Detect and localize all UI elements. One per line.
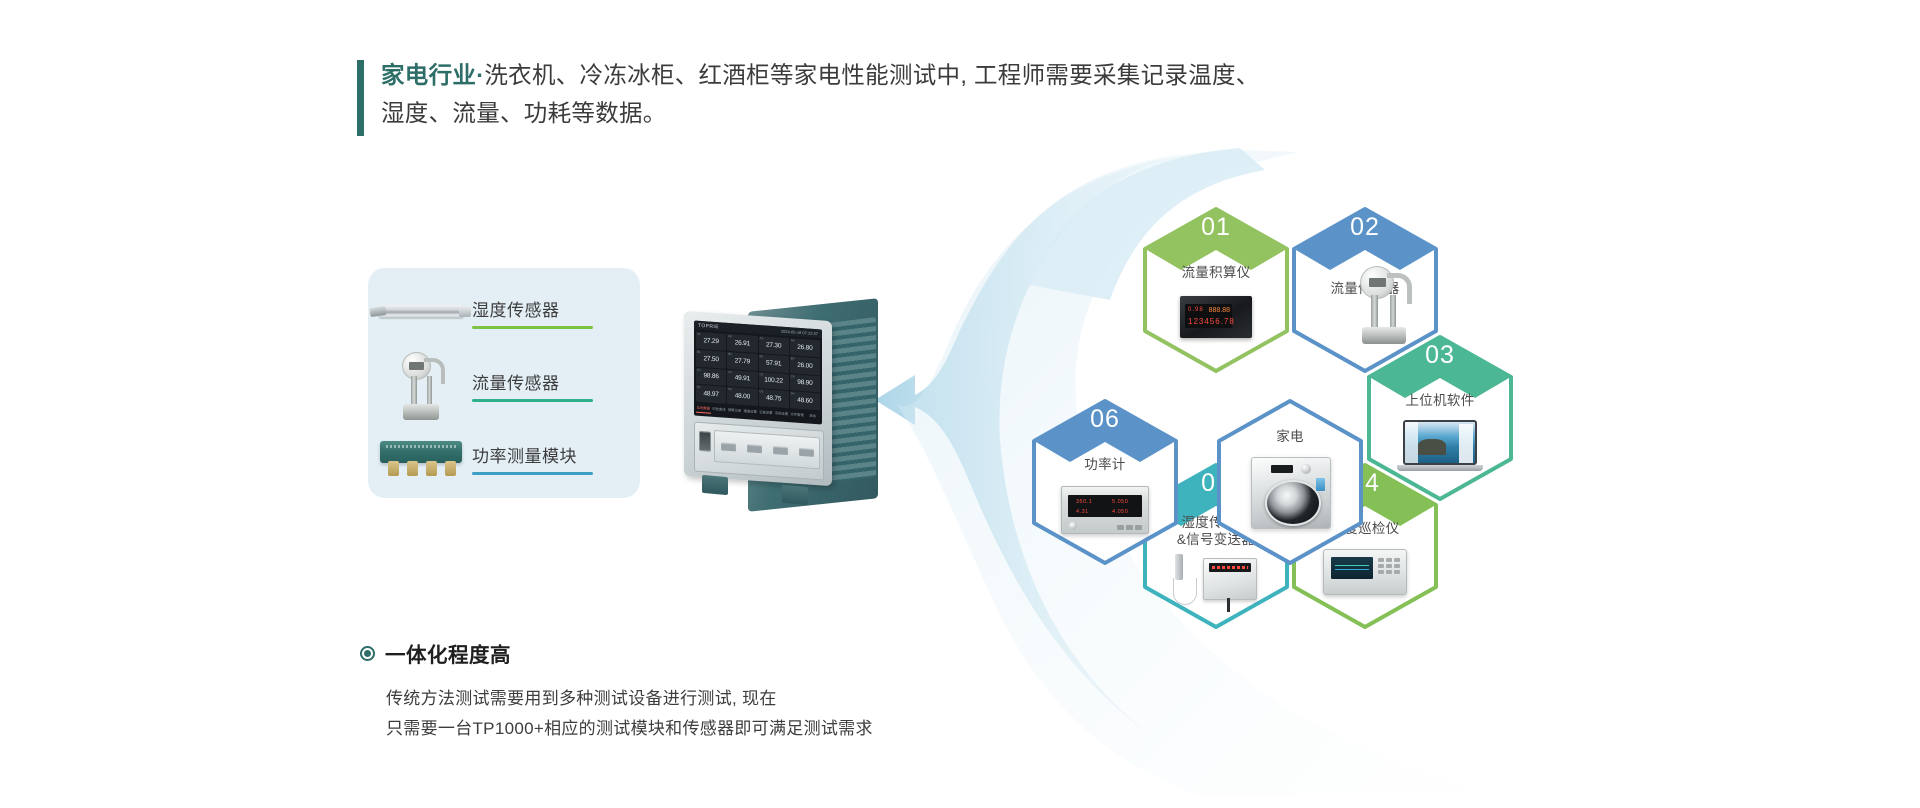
- bottom-body-line1: 传统方法测试需要用到多种测试设备进行测试, 现在: [386, 684, 1260, 714]
- reading-value: 48.00: [735, 392, 750, 400]
- device-tab-alarms[interactable]: 报警记录: [727, 406, 742, 416]
- washing-machine-icon: [1215, 454, 1365, 532]
- reading-cell: D348.75: [759, 389, 789, 408]
- sensor-label-wrap: 湿度传感器: [472, 296, 640, 329]
- reading-cell: B426.00: [790, 356, 820, 375]
- humidity-probe-icon: [368, 275, 472, 349]
- reading-value: 48.75: [766, 395, 781, 403]
- device-brand: TOPRIE: [698, 322, 719, 329]
- reading-value: 49.91: [735, 375, 750, 383]
- reading-cell: B357.91: [759, 354, 789, 373]
- hexagon-title: 家电: [1215, 428, 1365, 445]
- flow-totalizer-icon: 0.98 123456.78 888.88: [1141, 292, 1291, 342]
- totalizer-readout-1: 0.98: [1188, 307, 1204, 313]
- device-screen: TOPRIE 2024-05-16 07:22:37 A127.29 A226.…: [694, 321, 822, 425]
- meter-readout-3: 4.31: [1076, 509, 1089, 515]
- reading-cell: C198.86: [696, 367, 726, 386]
- header-text: 家电行业·洗衣机、冷冻冰柜、红酒柜等家电性能测试中, 工程师需要采集记录温度、 …: [381, 56, 1260, 132]
- reading-label: B3: [760, 354, 764, 358]
- reading-value: 27.50: [703, 355, 718, 363]
- reading-cell: D248.00: [727, 387, 757, 406]
- sensor-row-power: 功率测量模块: [368, 420, 640, 496]
- bottom-title: 一体化程度高: [385, 638, 511, 668]
- reading-value: 27.79: [735, 357, 750, 365]
- sensor-underline-power: [472, 472, 593, 475]
- hexagon-title: 上位机软件: [1365, 392, 1515, 409]
- sensor-row-flow: 流量传感器: [368, 347, 640, 423]
- meter-readout-4: 4.050: [1112, 509, 1128, 515]
- reading-value: 48.97: [703, 390, 718, 398]
- sensor-label-flow: 流量传感器: [472, 369, 636, 394]
- sensor-label-power: 功率测量模块: [472, 442, 636, 467]
- device-tab-history[interactable]: 历史曲线: [712, 405, 727, 415]
- reading-value: 98.86: [703, 373, 718, 381]
- reading-value: 27.30: [766, 341, 781, 349]
- reading-value: 26.80: [797, 344, 812, 352]
- reading-cell: A426.80: [790, 338, 820, 357]
- bottom-body-line2: 只需要一台TP1000+相应的测试模块和传感器即可满足测试需求: [386, 714, 1260, 744]
- reading-value: 48.60: [797, 397, 812, 405]
- bottom-body: 传统方法测试需要用到多种测试设备进行测试, 现在 只需要一台TP1000+相应的…: [360, 684, 1260, 744]
- header-accent-bar: [357, 60, 364, 136]
- device-tab-record[interactable]: 记录设置: [759, 408, 774, 418]
- reading-label: B2: [728, 352, 732, 356]
- reading-cell: D448.60: [790, 391, 820, 410]
- power-module-icon: [368, 421, 472, 495]
- device-foot-left: [702, 475, 728, 495]
- hexagon-01-flow-totalizer[interactable]: 01 流量积算仪 0.98 123456.78 888.88: [1141, 206, 1291, 374]
- sensor-row-humidity: 湿度传感器: [368, 274, 640, 350]
- device-readings-grid: A127.29 A226.91 A327.30 A426.80 B127.50 …: [694, 330, 822, 413]
- reading-label: B4: [791, 356, 795, 360]
- page-header: 家电行业·洗衣机、冷冻冰柜、红酒柜等家电性能测试中, 工程师需要采集记录温度、 …: [357, 56, 1487, 136]
- header-line1: 洗衣机、冷冻冰柜、红酒柜等家电性能测试中, 工程师需要采集记录温度、: [484, 62, 1259, 88]
- hexagon-title: 功率计: [1030, 456, 1180, 473]
- device-slot-row: [714, 430, 820, 469]
- device-tab-system[interactable]: 系统设置: [774, 409, 789, 419]
- circle-dot-icon: [360, 646, 375, 661]
- meter-readout-2: 5.050: [1112, 499, 1128, 505]
- reading-cell: C498.90: [790, 374, 820, 393]
- reading-label: D1: [697, 385, 701, 389]
- hexagon-number: 06: [1030, 405, 1180, 434]
- reading-cell: C249.91: [727, 369, 757, 388]
- reading-label: C3: [760, 372, 764, 376]
- header-line2: 湿度、流量、功耗等数据。: [381, 100, 667, 126]
- reading-label: D4: [791, 392, 795, 396]
- hexagon-title: 流量积算仪: [1141, 264, 1291, 281]
- reading-cell: C3100.22: [759, 372, 789, 391]
- bottom-section: 一体化程度高 传统方法测试需要用到多种测试设备进行测试, 现在 只需要一台TP1…: [360, 638, 1260, 744]
- hexagon-number: 03: [1365, 341, 1515, 370]
- header-highlight: 家电行业: [381, 62, 476, 88]
- reading-value: 100.22: [764, 377, 783, 385]
- reading-label: B1: [697, 349, 701, 353]
- sensor-label-wrap: 流量传感器: [472, 369, 640, 402]
- reading-cell: A127.29: [696, 332, 726, 351]
- reading-label: C1: [697, 367, 701, 371]
- sensor-label-wrap: 功率测量模块: [472, 442, 640, 475]
- device-foot-right: [782, 485, 808, 505]
- device-slot: [799, 448, 814, 457]
- reading-label: C2: [728, 369, 732, 373]
- totalizer-readout-2: 123456.78: [1188, 317, 1235, 326]
- device-module-bay: [694, 422, 824, 481]
- reading-label: A3: [760, 336, 764, 340]
- meter-readout-1: 350.1: [1076, 499, 1092, 505]
- sensor-label-humidity: 湿度传感器: [472, 296, 636, 321]
- reading-label: D3: [760, 389, 764, 393]
- reading-cell: A226.91: [727, 334, 757, 353]
- reading-cell: B127.50: [696, 349, 726, 368]
- sensor-panel: 湿度传感器 流量传感器: [368, 268, 640, 498]
- sensor-underline-humidity: [472, 326, 593, 329]
- device-slot: [773, 446, 788, 455]
- hexagon-center-appliance[interactable]: 家电: [1215, 398, 1365, 566]
- device-vent-grille: [828, 317, 876, 483]
- sensor-underline-flow: [472, 399, 593, 402]
- device-tab-files[interactable]: 文件管理: [790, 410, 805, 420]
- hexagon-06-power-meter[interactable]: 06 功率计 350.1 5.050 4.31 4.050: [1030, 398, 1180, 566]
- device-tab-realtime[interactable]: 实时数据: [696, 404, 711, 414]
- tp1000-device: TOPRIE 2024-05-16 07:22:37 A127.29 A226.…: [672, 300, 922, 550]
- page-root: 家电行业·洗衣机、冷冻冰柜、红酒柜等家电性能测试中, 工程师需要采集记录温度、 …: [0, 0, 1920, 808]
- reading-value: 27.29: [703, 337, 718, 345]
- device-tab-exit[interactable]: 退出: [805, 411, 820, 421]
- device-slot: [721, 442, 736, 451]
- reading-cell: A327.30: [759, 336, 789, 355]
- device-tab-channel[interactable]: 通道设置: [743, 407, 758, 417]
- device-slot: [747, 444, 762, 453]
- reading-value: 26.00: [797, 361, 812, 369]
- reading-label: C4: [791, 374, 795, 378]
- reading-label: D2: [728, 387, 732, 391]
- reading-label: A2: [728, 334, 732, 338]
- power-meter-icon: 350.1 5.050 4.31 4.050: [1030, 484, 1180, 536]
- bottom-heading-row: 一体化程度高: [360, 638, 1260, 668]
- reading-cell: D148.97: [696, 385, 726, 404]
- flow-sensor-icon: [368, 348, 472, 422]
- totalizer-readout-3: 888.88: [1209, 307, 1230, 314]
- device-front-face: TOPRIE 2024-05-16 07:22:37 A127.29 A226.…: [684, 311, 832, 486]
- reading-cell: B227.79: [727, 352, 757, 371]
- reading-value: 98.90: [797, 379, 812, 387]
- reading-value: 57.91: [766, 359, 781, 367]
- hexagon-number: 02: [1290, 213, 1440, 242]
- device-power-switch[interactable]: [699, 431, 711, 452]
- reading-value: 26.91: [735, 339, 750, 347]
- reading-label: A4: [791, 338, 795, 342]
- reading-label: A1: [697, 332, 701, 336]
- hexagon-number: 01: [1141, 213, 1291, 242]
